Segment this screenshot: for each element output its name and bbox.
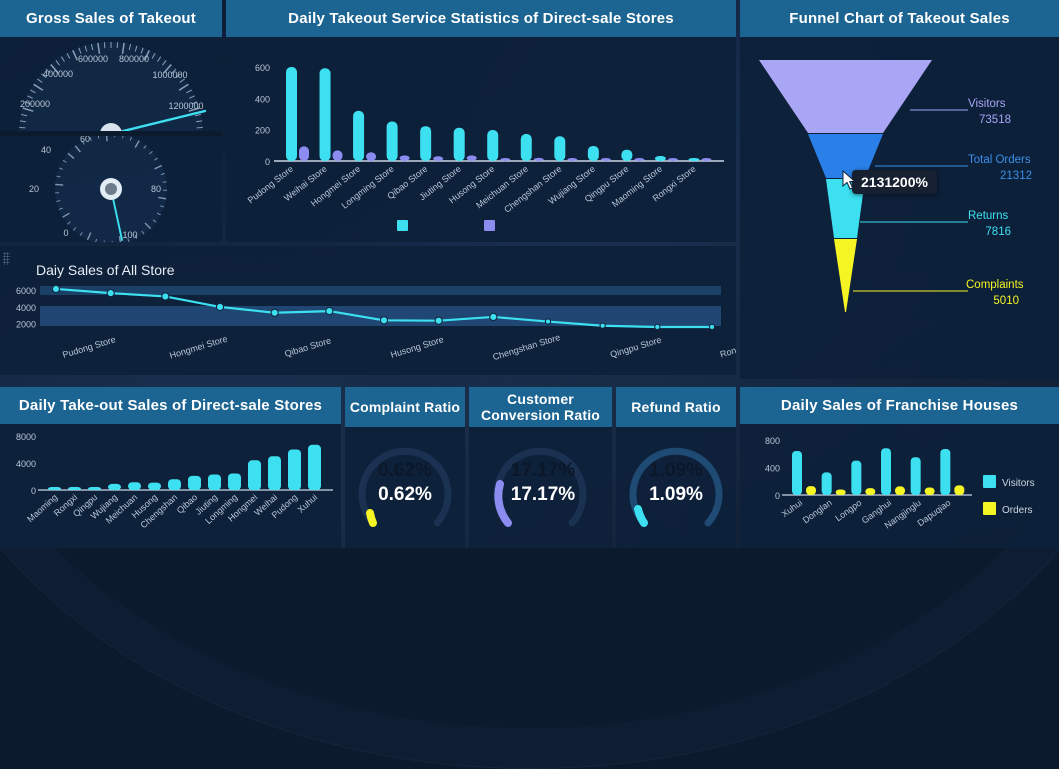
- svg-text:0: 0: [775, 491, 780, 501]
- line-point[interactable]: [545, 319, 550, 324]
- bar-orders[interactable]: [366, 152, 376, 161]
- svg-text:800: 800: [765, 436, 780, 446]
- funnel-label-total-orders: Total Orders: [968, 154, 1031, 166]
- x-labels-takeout: MaomingRongxiQingpuWujiangMeichuanHusong…: [25, 492, 319, 530]
- bar-orders[interactable]: [534, 158, 544, 161]
- bars-takeout[interactable]: [48, 445, 321, 490]
- gauge-tick-800000: 800000: [119, 54, 149, 64]
- bar-orders[interactable]: [333, 150, 343, 161]
- gauge-tick-1200000: 1200000: [168, 101, 203, 111]
- line-point[interactable]: [271, 309, 278, 316]
- refund-body: 1.09% 1.09%: [616, 427, 736, 548]
- bar-visitors[interactable]: [286, 67, 297, 161]
- funnel-segment-complaints[interactable]: [834, 239, 857, 312]
- panel-daily-service: Daily Takeout Service Statistics of Dire…: [226, 0, 736, 242]
- bar-visitors[interactable]: [822, 472, 832, 495]
- line-band-upper: [40, 286, 721, 295]
- conversion-value-shadow: 17.17%: [511, 460, 576, 481]
- svg-text:400: 400: [765, 464, 780, 474]
- bar-takeout[interactable]: [308, 445, 321, 490]
- bar-orders[interactable]: [299, 146, 309, 161]
- bar-takeout[interactable]: [228, 473, 241, 490]
- svg-text:0: 0: [265, 157, 270, 167]
- bar-takeout[interactable]: [188, 476, 201, 490]
- gauge2-tick-20: 20: [29, 184, 39, 194]
- bar-orders[interactable]: [601, 158, 611, 161]
- y-tick: 2000: [16, 320, 36, 330]
- panel-takeout-sales: Daily Take-out Sales of Direct-sale Stor…: [0, 387, 341, 548]
- x-label: Qibao Store: [283, 335, 332, 359]
- panel-gross-sales: Gross Sales of Takeout 200000 400000 600…: [0, 0, 222, 242]
- y-axis-takeout: 040008000: [16, 432, 36, 496]
- legend-label-visitors-franchise: Visitors: [1002, 478, 1035, 489]
- complaint-value-shadow: 0.62%: [378, 460, 432, 481]
- line-band-lower: [40, 306, 721, 326]
- line-point[interactable]: [107, 290, 114, 297]
- line-point[interactable]: [162, 293, 169, 300]
- bar-orders[interactable]: [836, 490, 846, 496]
- bar-takeout[interactable]: [148, 483, 161, 490]
- line-point[interactable]: [52, 285, 59, 292]
- bar-visitors[interactable]: [621, 150, 632, 161]
- bar-visitors[interactable]: [521, 134, 532, 161]
- panel-title-conversion-ratio: Customer Conversion Ratio: [469, 387, 612, 427]
- x-label: Pudong Store: [61, 334, 117, 360]
- x-label: Hongmei Store: [168, 334, 228, 361]
- bar-visitors[interactable]: [688, 158, 699, 161]
- gauge-tick-200000: 200000: [20, 99, 50, 109]
- funnel-value-returns: 7816: [985, 226, 1011, 238]
- panel-complaint-ratio: Complaint Ratio 0.62% 0.62%: [345, 387, 465, 548]
- funnel-body: Visitors 73518 Total Orders 21312 Return…: [740, 37, 1059, 379]
- legend-swatch-orders-franchise: [983, 502, 996, 515]
- complaint-gauge[interactable]: 0.62% 0.62%: [345, 427, 465, 548]
- panel-title-funnel: Funnel Chart of Takeout Sales: [740, 0, 1059, 37]
- line-point[interactable]: [216, 303, 223, 310]
- bar-visitors[interactable]: [320, 68, 331, 161]
- x-label: Rongxi Store: [719, 335, 736, 360]
- refund-value-shadow: 1.09%: [649, 460, 703, 481]
- conversion-gauge[interactable]: 17.17% 17.17%: [469, 427, 612, 548]
- daily-service-body: 0200400600 Pudong StoreWeihai StoreHongm…: [226, 37, 736, 242]
- x-labels-franchise: XuhuiDonglanLongpoGanghuiNangjingluDapuq…: [780, 498, 953, 531]
- x-label: Xuhui: [296, 492, 320, 515]
- panel-drag-handle[interactable]: [3, 252, 10, 265]
- legend-swatch-visitors-franchise: [983, 475, 996, 488]
- gauge-tick-400000: 400000: [43, 69, 73, 79]
- funnel-value-complaints: 5010: [993, 295, 1019, 307]
- gauge2-tick-80: 80: [151, 184, 161, 194]
- x-labels-daily: Pudong StoreWeihai StoreHongmei StoreLon…: [246, 164, 698, 215]
- bar-orders[interactable]: [567, 158, 577, 161]
- panel-refund-ratio: Refund Ratio 1.09% 1.09%: [616, 387, 736, 548]
- bar-orders[interactable]: [865, 488, 875, 495]
- franchise-chart[interactable]: 0400800 XuhuiDonglanLongpoGanghuiNangjin…: [740, 424, 1059, 548]
- bar-visitors[interactable]: [454, 128, 465, 161]
- svg-text:8000: 8000: [16, 432, 36, 442]
- x-label: Qingpu Store: [609, 335, 663, 360]
- funnel-value-visitors: 73518: [979, 114, 1011, 126]
- line-point[interactable]: [435, 317, 442, 324]
- bar-visitors[interactable]: [911, 457, 921, 495]
- refund-gauge-progress: [638, 509, 644, 523]
- gauge2-tick-0: 0: [63, 228, 68, 238]
- panel-title-gross-sales: Gross Sales of Takeout: [0, 0, 222, 37]
- bar-visitors[interactable]: [940, 449, 950, 495]
- gauge2-tick-100: 100: [122, 230, 137, 240]
- gauge2-tick-40: 40: [41, 145, 51, 155]
- x-label: Donglan: [801, 498, 834, 526]
- panel-franchise-sales: Daily Sales of Franchise Houses 0400800 …: [740, 387, 1059, 548]
- funnel-tooltip: 2131200%: [852, 170, 937, 194]
- legend-daily[interactable]: [397, 220, 495, 231]
- bar-visitors[interactable]: [881, 448, 891, 495]
- panel-title-takeout-sales: Daily Take-out Sales of Direct-sale Stor…: [0, 387, 341, 424]
- daily-service-chart[interactable]: 0200400600 Pudong StoreWeihai StoreHongm…: [226, 37, 736, 242]
- bar-takeout[interactable]: [68, 487, 81, 490]
- panel-conversion-ratio: Customer Conversion Ratio 17.17% 17.17%: [469, 387, 612, 548]
- gauge-tick-1000000: 1000000: [152, 70, 187, 80]
- bar-takeout[interactable]: [88, 487, 101, 490]
- bar-orders[interactable]: [467, 155, 477, 161]
- legend-swatch-visitors: [397, 220, 408, 231]
- svg-text:0: 0: [31, 486, 36, 496]
- y-axis-daily: 0200400600: [255, 63, 270, 167]
- bar-orders[interactable]: [668, 158, 678, 161]
- complaint-value: 0.62%: [378, 484, 432, 505]
- svg-text:4000: 4000: [16, 459, 36, 469]
- gauge-gross-sales-bottom: 40 60 20 80 0 100: [29, 133, 167, 242]
- line-point[interactable]: [655, 324, 660, 329]
- bar-orders[interactable]: [634, 158, 644, 161]
- funnel-value-total-orders: 21312: [1000, 170, 1032, 182]
- funnel-label-visitors: Visitors: [968, 98, 1006, 110]
- panel-title-refund-ratio: Refund Ratio: [616, 387, 736, 427]
- gauge-hub-bottom-inner: [105, 183, 117, 195]
- svg-text:600: 600: [255, 63, 270, 73]
- gross-sales-gauges[interactable]: 200000 400000 600000 800000 1000000 1200…: [0, 37, 222, 242]
- line-point[interactable]: [709, 324, 714, 329]
- bar-visitors[interactable]: [387, 122, 398, 161]
- bar-orders[interactable]: [701, 158, 711, 161]
- legend-franchise[interactable]: Visitors Orders: [983, 475, 1035, 516]
- bar-visitors[interactable]: [792, 451, 802, 495]
- x-label: Dapuqiao: [915, 498, 952, 529]
- x-label: Xuhui: [780, 498, 805, 520]
- bar-takeout[interactable]: [108, 484, 121, 490]
- bars-franchise[interactable]: [792, 448, 964, 495]
- bar-orders[interactable]: [433, 156, 443, 161]
- x-label: Chengshan Store: [491, 332, 561, 362]
- y-axis-franchise: 0400800: [765, 436, 780, 501]
- y-tick: 4000: [16, 303, 36, 313]
- conversion-value: 17.17%: [511, 484, 576, 505]
- bar-takeout[interactable]: [268, 456, 281, 490]
- panel-title-franchise-sales: Daily Sales of Franchise Houses: [740, 387, 1059, 424]
- legend-label-orders-franchise: Orders: [1002, 505, 1033, 516]
- funnel-segment-visitors[interactable]: [759, 60, 932, 133]
- bar-visitors[interactable]: [851, 461, 861, 495]
- line-point[interactable]: [326, 307, 333, 314]
- bar-orders[interactable]: [500, 158, 510, 161]
- bar-orders[interactable]: [806, 486, 816, 495]
- gross-sales-body: 200000 400000 600000 800000 1000000 1200…: [0, 37, 222, 242]
- mouse-cursor-icon: [842, 170, 858, 190]
- y-tick: 6000: [16, 286, 36, 296]
- bar-visitors[interactable]: [420, 126, 431, 161]
- bar-visitors[interactable]: [487, 130, 498, 161]
- x-label: Chengshan Store: [502, 164, 563, 215]
- line-point[interactable]: [380, 317, 387, 324]
- gauge-tick-600000: 600000: [78, 54, 108, 64]
- panel-title-daily-service: Daily Takeout Service Statistics of Dire…: [226, 0, 736, 37]
- bar-visitors[interactable]: [353, 111, 364, 161]
- x-label: Husong Store: [389, 334, 445, 360]
- x-labels-line: Pudong StoreHongmei StoreQibao StoreHuso…: [61, 332, 736, 362]
- conversion-body: 17.17% 17.17%: [469, 427, 612, 548]
- panel-title-complaint-ratio: Complaint Ratio: [345, 387, 465, 427]
- complaint-body: 0.62% 0.62%: [345, 427, 465, 548]
- bar-takeout[interactable]: [288, 450, 301, 491]
- bars-daily[interactable]: [286, 67, 711, 161]
- bar-orders[interactable]: [400, 155, 410, 161]
- complaint-gauge-progress: [370, 513, 373, 523]
- x-label: Longpo: [833, 498, 863, 524]
- refund-value: 1.09%: [649, 484, 703, 505]
- funnel-label-complaints: Complaints: [966, 279, 1024, 291]
- y-axis-line: 200040006000: [16, 286, 36, 329]
- bar-orders[interactable]: [925, 487, 935, 495]
- takeout-sales-chart[interactable]: 040008000 MaomingRongxiQingpuWujiangMeic…: [0, 424, 341, 548]
- bar-takeout[interactable]: [168, 479, 181, 490]
- legend-swatch-orders: [484, 220, 495, 231]
- funnel-chart[interactable]: Visitors 73518 Total Orders 21312 Return…: [740, 37, 1059, 379]
- bar-visitors[interactable]: [588, 146, 599, 161]
- bar-takeout[interactable]: [248, 460, 261, 490]
- franchise-body: 0400800 XuhuiDonglanLongpoGanghuiNangjin…: [740, 424, 1059, 548]
- conversion-gauge-progress: [498, 484, 508, 523]
- bar-takeout[interactable]: [48, 487, 61, 490]
- funnel-label-returns: Returns: [968, 210, 1009, 222]
- svg-text:400: 400: [255, 94, 270, 104]
- refund-gauge[interactable]: 1.09% 1.09%: [616, 427, 736, 548]
- takeout-body: 040008000 MaomingRongxiQingpuWujiangMeic…: [0, 424, 341, 548]
- bar-visitors[interactable]: [554, 136, 565, 161]
- bar-orders[interactable]: [895, 486, 905, 495]
- panel-daily-sales-all-store: Daiy Sales of All Store 200040006000 Pud…: [0, 246, 736, 375]
- bar-takeout[interactable]: [208, 474, 221, 490]
- line-point[interactable]: [490, 313, 497, 320]
- bar-visitors[interactable]: [655, 156, 666, 161]
- bar-orders[interactable]: [954, 485, 964, 495]
- bar-takeout[interactable]: [128, 482, 141, 490]
- line-point[interactable]: [600, 323, 605, 328]
- panel-title-line: Daiy Sales of All Store: [36, 262, 175, 278]
- svg-text:200: 200: [255, 126, 270, 136]
